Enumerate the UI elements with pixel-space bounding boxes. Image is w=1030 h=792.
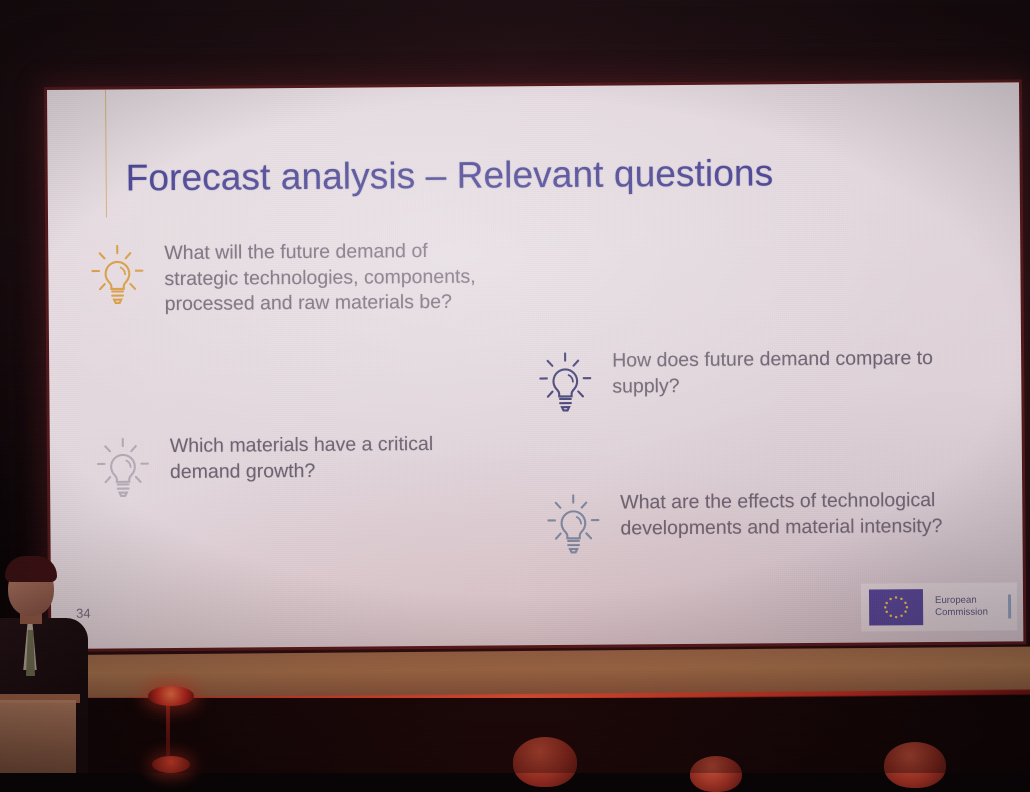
slide-title: Forecast analysis – Relevant questions [126, 152, 774, 199]
question-block-2: How does future demand compare to supply… [534, 346, 933, 415]
audience-head [690, 756, 742, 792]
question-line: supply? [612, 372, 933, 400]
audience-head [513, 737, 577, 787]
question-line: How does future demand compare to [612, 346, 933, 374]
question-block-4: What are the effects of technological de… [542, 488, 942, 557]
question-line: strategic technologies, components, [164, 264, 475, 292]
eu-stars [869, 589, 923, 625]
question-line: demand growth? [170, 457, 434, 485]
lightbulb-icon [92, 434, 155, 500]
lightbulb-icon [534, 349, 597, 415]
presenter-hair [5, 556, 57, 582]
european-commission-label: European Commission [935, 595, 988, 619]
question-line: What are the effects of technological [620, 488, 942, 516]
question-text-3: Which materials have a critical demand g… [170, 432, 434, 485]
european-commission-logo: European Commission [861, 582, 1017, 631]
stage-lamp-base [152, 756, 190, 773]
lightbulb-icon [86, 241, 149, 307]
logo-accent-bar [1008, 594, 1011, 618]
question-line: developments and material intensity? [620, 513, 942, 541]
question-line: Which materials have a critical [170, 432, 434, 460]
lectern [0, 700, 76, 773]
question-text-1: What will the future demand of strategic… [164, 239, 476, 318]
stage-lamp-head [148, 686, 194, 706]
question-line: processed and raw materials be? [165, 290, 476, 318]
question-text-4: What are the effects of technological de… [620, 488, 942, 542]
title-accent-rule [105, 90, 107, 218]
logo-line: Commission [935, 607, 988, 619]
audience-head [884, 742, 946, 788]
question-block-3: Which materials have a critical demand g… [92, 432, 434, 501]
projection-screen: Forecast analysis – Relevant questions W… [47, 82, 1023, 649]
presentation-slide: Forecast analysis – Relevant questions W… [47, 82, 1023, 649]
question-text-2: How does future demand compare to supply… [612, 346, 933, 400]
question-block-1: What will the future demand of strategic… [86, 239, 476, 319]
lightbulb-icon [542, 491, 605, 557]
eu-flag-icon [869, 589, 923, 625]
question-line: What will the future demand of [164, 239, 475, 267]
logo-line: European [935, 595, 988, 607]
